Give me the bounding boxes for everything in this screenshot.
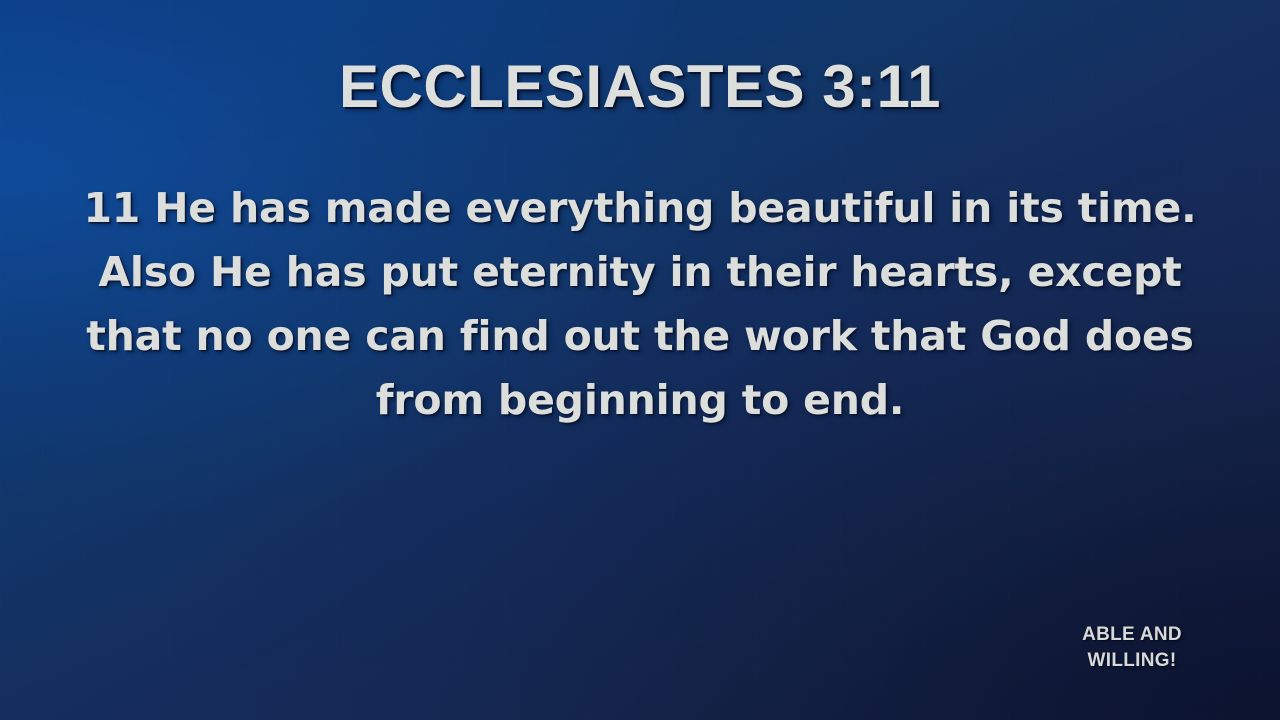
- slide-content: ECCLESIASTES 3:11 11 He has made everyth…: [0, 0, 1280, 720]
- verse-line: 11 He has made everything beautiful in i…: [0, 176, 1280, 240]
- verse-text-block: 11 He has made everything beautiful in i…: [0, 176, 1280, 432]
- scripture-reference-title: ECCLESIASTES 3:11: [0, 52, 1280, 121]
- scripture-slide: ECCLESIASTES 3:11 11 He has made everyth…: [0, 0, 1280, 720]
- channel-watermark: ABLE AND WILLING!: [1042, 622, 1222, 674]
- watermark-line: ABLE AND: [1042, 622, 1222, 648]
- watermark-line: WILLING!: [1042, 648, 1222, 674]
- verse-line: from beginning to end.: [0, 368, 1280, 432]
- verse-line: Also He has put eternity in their hearts…: [0, 240, 1280, 304]
- verse-line: that no one can find out the work that G…: [0, 304, 1280, 368]
